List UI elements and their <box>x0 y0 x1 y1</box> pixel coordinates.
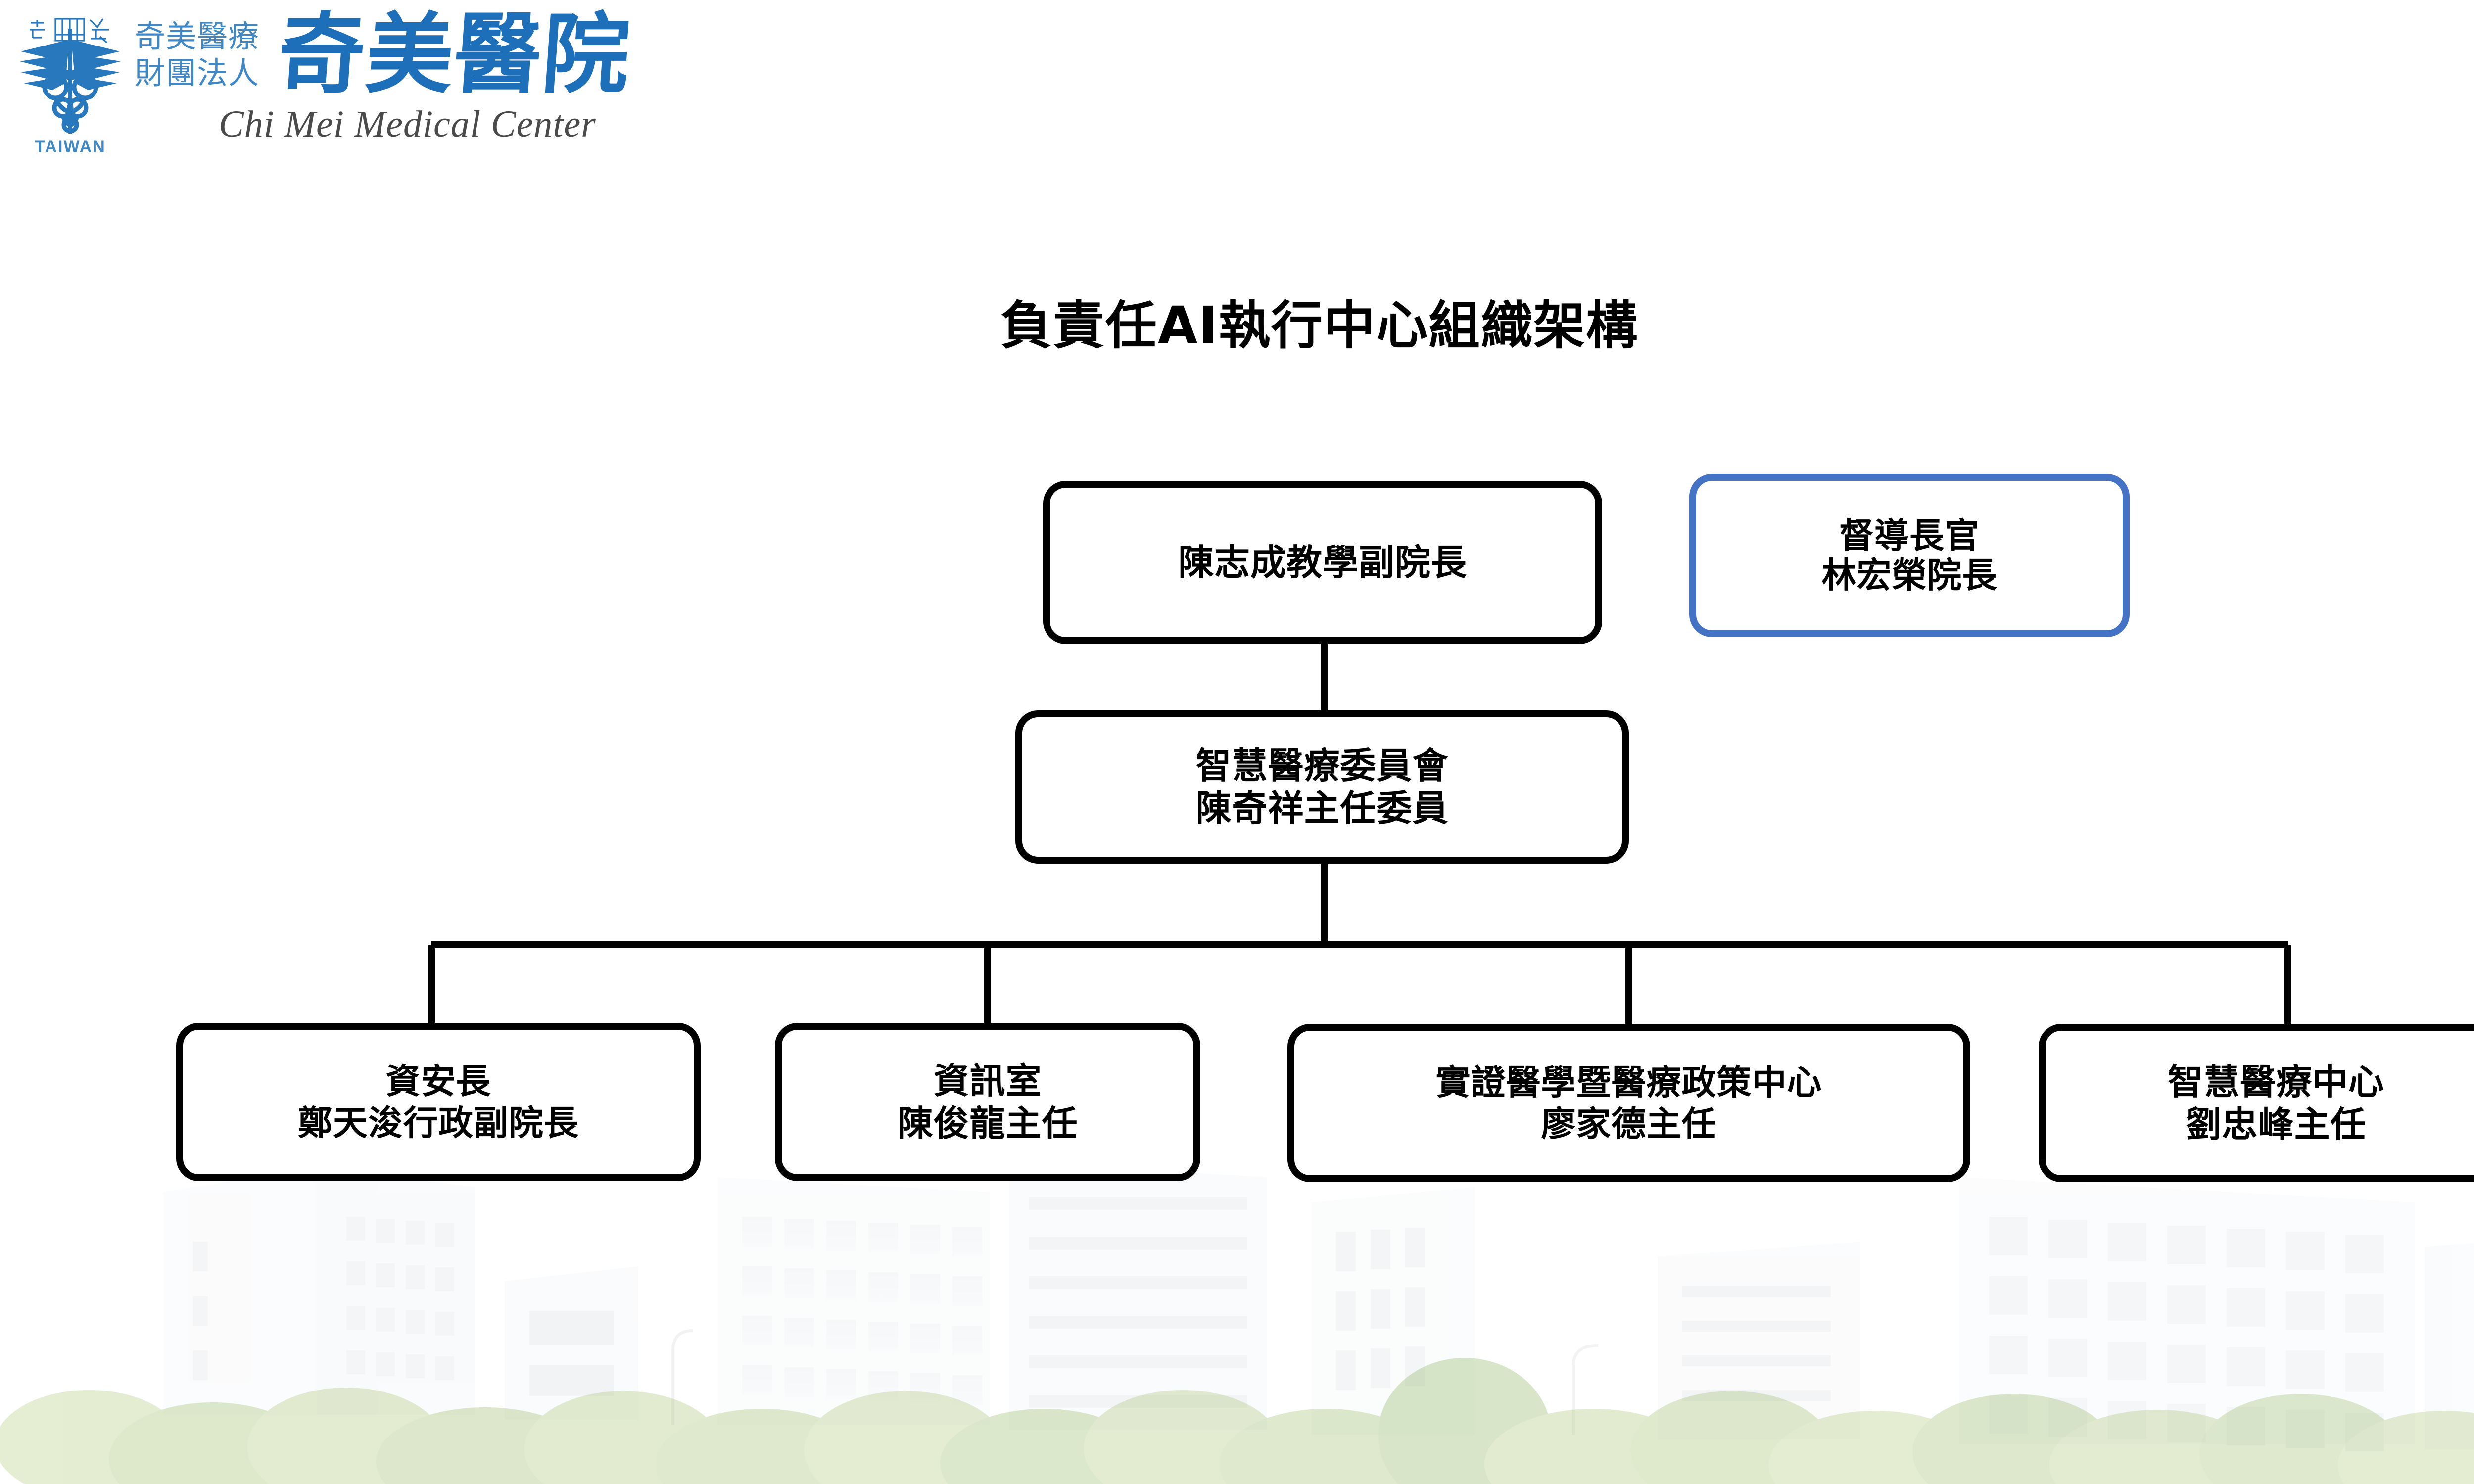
node-it-line2: 陳俊龍主任 <box>897 1102 1078 1145</box>
node-information-technology-office[interactable]: 資訊室 陳俊龍主任 <box>775 1023 1200 1181</box>
node-committee-line2: 陳奇祥主任委員 <box>1195 787 1448 830</box>
logo-cn-line2: 財團法人 <box>135 56 259 90</box>
node-ciso-line2: 鄭天浚行政副院長 <box>298 1102 579 1144</box>
node-vp-line1: 陳志成教學副院長 <box>1178 541 1467 584</box>
logo-cn-line1: 奇美醫療 <box>135 20 259 53</box>
node-chief-information-security-officer[interactable]: 資安長 鄭天浚行政副院長 <box>176 1023 701 1181</box>
logo-english-name: Chi Mei Medical Center <box>219 104 596 144</box>
node-ebm-line2: 廖家德主任 <box>1541 1103 1717 1145</box>
node-teaching-vice-superintendent[interactable]: 陳志成教學副院長 <box>1043 481 1602 644</box>
node-ebm-line1: 實證醫學暨醫療政策中心 <box>1436 1062 1822 1103</box>
node-smart-healthcare-committee[interactable]: 智慧醫療委員會 陳奇祥主任委員 <box>1015 710 1629 864</box>
node-ciso-line1: 資安長 <box>386 1061 491 1102</box>
node-supervising-officer[interactable]: 督導長官 林宏榮院長 <box>1689 474 2130 637</box>
node-smart-line2: 劉忠峰主任 <box>2186 1103 2366 1146</box>
chi-mei-logo-block: TAIWAN 奇美醫療 財團法人 奇美醫院 Chi Mei Medical Ce… <box>11 9 516 157</box>
logo-cn-hospital-name: 奇美醫院 <box>275 10 634 99</box>
node-it-line1: 資訊室 <box>933 1060 1042 1102</box>
taiwan-label: TAIWAN <box>35 138 106 156</box>
node-advisor-line2: 林宏榮院長 <box>1822 556 1998 595</box>
node-committee-line1: 智慧醫療委員會 <box>1195 744 1448 787</box>
page-title: 負責任AI執行中心組織架構 <box>0 296 2474 355</box>
caduceus-icon: TAIWAN <box>11 9 130 157</box>
node-smart-line1: 智慧醫療中心 <box>2168 1061 2384 1103</box>
node-smart-healthcare-center[interactable]: 智慧醫療中心 劉忠峰主任 <box>2039 1024 2474 1182</box>
node-evidence-based-medicine-center[interactable]: 實證醫學暨醫療政策中心 廖家德主任 <box>1287 1024 1970 1182</box>
node-advisor-line1: 督導長官 <box>1839 516 1980 556</box>
